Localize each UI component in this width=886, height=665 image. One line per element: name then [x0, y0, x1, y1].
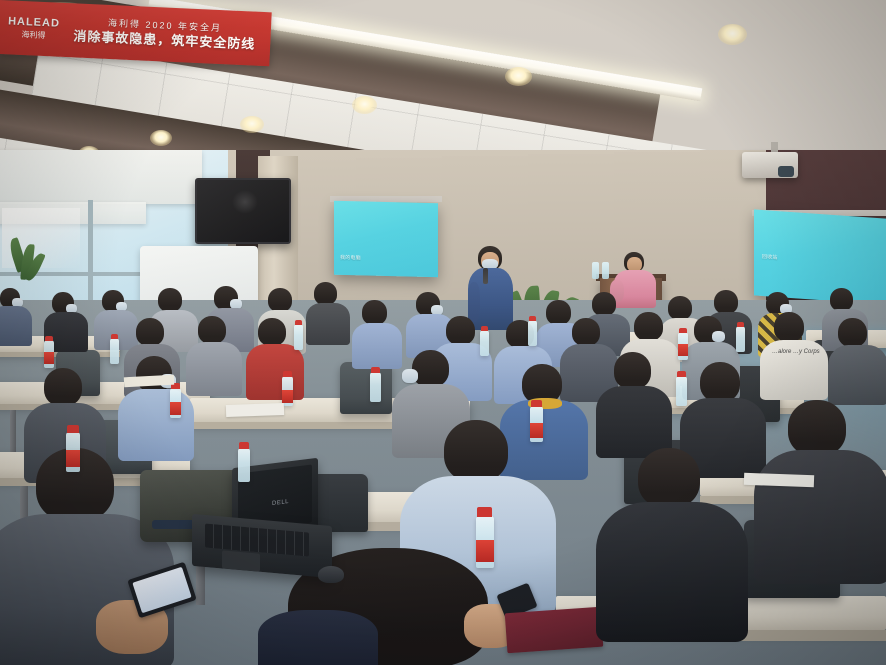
audience-head [158, 288, 182, 312]
paper-sheet [226, 403, 284, 417]
audience-head [314, 282, 337, 305]
bottle-cap [45, 336, 53, 341]
face-mask [402, 369, 418, 383]
banner-logo: HALEAD 海利得 [0, 15, 65, 42]
water-bottle [736, 326, 745, 352]
water-bottle [294, 324, 303, 350]
audience-torso [306, 303, 350, 345]
audience-head [572, 318, 600, 346]
downlight-3 [240, 116, 264, 133]
downlight-2 [150, 130, 172, 146]
bottle-label [678, 344, 688, 356]
audience-torso [828, 345, 886, 405]
bottle-cap [111, 334, 118, 339]
bottle-cap [239, 442, 249, 449]
paper-sheet [744, 473, 814, 487]
bottle-label [66, 450, 80, 467]
water-bottle [110, 338, 119, 364]
projector-lens [778, 166, 794, 177]
bottle-cap [529, 316, 536, 321]
audience-head [44, 368, 82, 406]
audience-head [592, 292, 616, 316]
bottle-cap [677, 371, 686, 377]
audience-member-tshirt-text: …alore …y Corps [760, 312, 826, 398]
audience-member [596, 352, 670, 452]
downlight-6 [718, 24, 747, 45]
foreground-torso [754, 450, 886, 584]
audience-head [634, 312, 663, 341]
audience-member [828, 318, 886, 402]
screen-desktop-icon-label: 我的电脑 [340, 255, 361, 263]
conference-room-photo: 我的电脑 回收站 HALEAD 海利得 海利得 2020 年安全月 消除事故隐患… [0, 0, 886, 665]
laptop-trackpad[interactable] [222, 550, 260, 571]
banner-text: 海利得 2020 年安全月 消除事故隐患，筑牢安全防线 [64, 16, 271, 53]
chair [340, 362, 392, 414]
water-bottle [370, 372, 381, 402]
bottle-cap [679, 328, 687, 333]
downlight-4 [352, 96, 377, 114]
foreground-head [788, 400, 846, 456]
downlight-5 [505, 67, 532, 86]
audience-head [714, 290, 738, 314]
audience-torso [0, 306, 32, 346]
audience-torso [246, 344, 304, 400]
podium-water-bottle [592, 262, 599, 279]
bottle-cap [295, 320, 302, 325]
water-bottle [480, 330, 489, 356]
bottle-cap [283, 371, 292, 377]
window-blind-upper [0, 150, 202, 204]
audience-head [774, 312, 804, 342]
face-mask [712, 331, 725, 342]
foreground-torso [596, 502, 748, 642]
notebook [505, 607, 604, 654]
bottle-label [282, 390, 293, 403]
bottle-label [44, 352, 54, 364]
audience-head [700, 362, 740, 402]
audience-member [306, 282, 350, 342]
audience-head [412, 350, 449, 387]
bottle-cap [371, 367, 380, 373]
bottle-cap [481, 326, 488, 331]
tshirt-print-text: …alore …y Corps [772, 348, 824, 356]
audience-head [614, 352, 651, 389]
projection-screen-left: 我的电脑 [334, 201, 438, 278]
foreground-shoulder [258, 610, 378, 665]
computer-mouse[interactable] [318, 566, 344, 583]
audience-head [258, 318, 286, 346]
audience-head [136, 318, 164, 346]
foreground-head [444, 420, 508, 482]
tv-glare [232, 190, 258, 214]
bottle-label [170, 402, 181, 415]
audience-member [0, 288, 36, 342]
audience-member [186, 316, 242, 392]
audience-head [198, 316, 226, 344]
audience-head [830, 288, 853, 311]
banner-logo-chinese: 海利得 [2, 28, 64, 42]
podium-water-bottle [602, 262, 609, 279]
screen-desktop-icon-label-right: 回收站 [762, 254, 778, 262]
audience-head [838, 318, 867, 347]
foreground-head [638, 448, 700, 508]
audience-head [446, 316, 475, 345]
audience-head [268, 288, 292, 312]
bottle-cap [531, 400, 542, 407]
water-bottle [528, 320, 537, 346]
foreground-person-far-right [754, 400, 886, 580]
bottle-cap [737, 322, 744, 327]
water-bottle [676, 376, 687, 406]
bottle-label [530, 423, 543, 438]
bottle-cap [67, 425, 79, 433]
bottle-label [476, 540, 494, 562]
microphone [483, 268, 488, 284]
foreground-person-right [596, 448, 746, 638]
audience-torso [186, 342, 242, 396]
water-bottle [238, 448, 250, 482]
audience-head [362, 300, 387, 325]
bottle-cap [477, 507, 492, 517]
